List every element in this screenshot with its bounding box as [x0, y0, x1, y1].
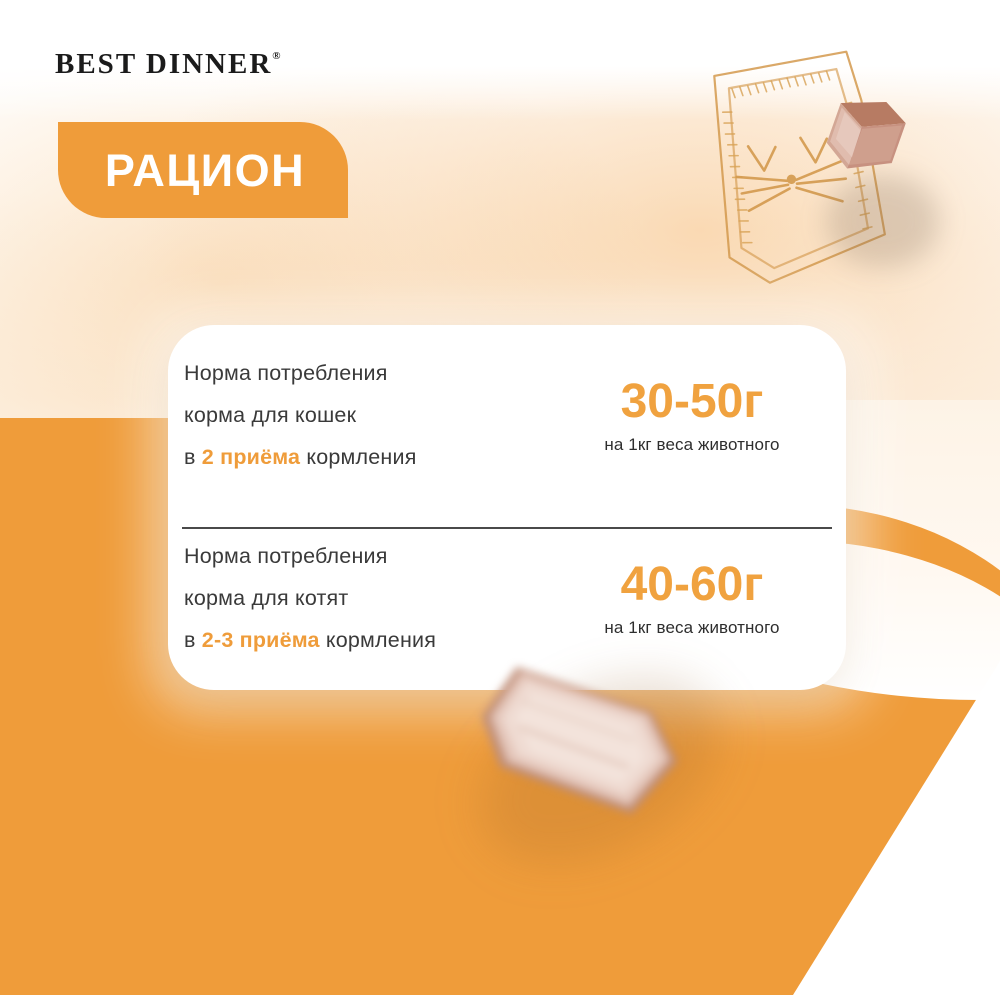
meat-cube-shadow: [827, 175, 939, 267]
feeding-row-adult-line3-highlight: 2 приёма: [202, 445, 300, 469]
feeding-row-adult-value: 30-50г: [556, 377, 828, 427]
section-badge-label: РАЦИОН: [101, 148, 305, 193]
feeding-row-adult-line3-suffix: кормления: [300, 445, 416, 469]
feeding-row-adult-value-note: на 1кг веса животного: [556, 435, 828, 455]
feeding-norms-card: Норма потребления корма для кошек в 2 пр…: [168, 325, 846, 690]
feeding-row-kitten-line1: Норма потребления: [184, 536, 556, 578]
feeding-row-kitten-value-block: 40-60г на 1кг веса животного: [556, 560, 846, 637]
feeding-row-adult-text: Норма потребления корма для кошек в 2 пр…: [168, 353, 556, 479]
feeding-row-adult-line3-prefix: в: [184, 445, 202, 469]
feeding-row-kitten-text: Норма потребления корма для котят в 2-3 …: [168, 536, 556, 662]
feeding-row-kitten: Норма потребления корма для котят в 2-3 …: [168, 508, 846, 690]
pate-chunk-icon: [455, 665, 715, 840]
brand-logo: BEST DINNER®: [55, 50, 281, 79]
feeding-row-kitten-value-note: на 1кг веса животного: [556, 618, 828, 638]
brand-logo-text: BEST DINNER: [55, 48, 272, 80]
feeding-row-adult-value-block: 30-50г на 1кг веса животного: [556, 377, 846, 454]
feeding-row-adult-line3: в 2 приёма кормления: [184, 437, 556, 479]
feeding-row-kitten-line3: в 2-3 приёма кормления: [184, 620, 556, 662]
meat-cube-icon: [820, 88, 912, 180]
feeding-row-kitten-line2: корма для котят: [184, 578, 556, 620]
feeding-row-kitten-line3-suffix: кормления: [320, 628, 436, 652]
feeding-row-adult-line1: Норма потребления: [184, 353, 556, 395]
section-badge: РАЦИОН: [58, 122, 348, 218]
feeding-row-kitten-line3-prefix: в: [184, 628, 202, 652]
poster-canvas: BEST DINNER® РАЦИОН: [0, 0, 1000, 995]
registered-trademark-icon: ®: [272, 50, 280, 62]
feeding-row-kitten-value: 40-60г: [556, 560, 828, 610]
feeding-row-adult-line2: корма для кошек: [184, 395, 556, 437]
feeding-row-kitten-line3-highlight: 2-3 приёма: [202, 628, 320, 652]
feeding-row-adult: Норма потребления корма для кошек в 2 пр…: [168, 325, 846, 507]
